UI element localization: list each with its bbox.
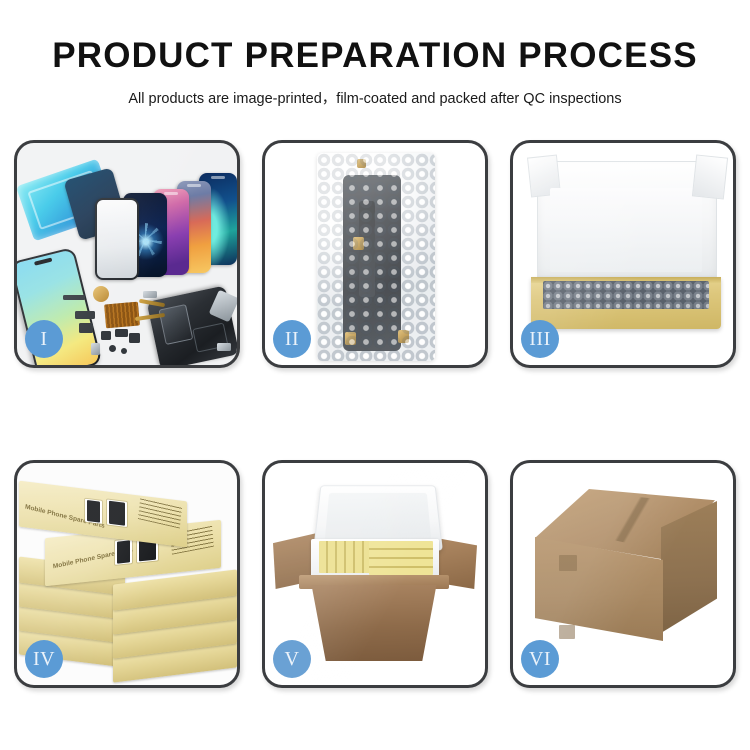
metal-bracket-graphic bbox=[143, 291, 157, 298]
vibration-motor-graphic bbox=[101, 331, 111, 340]
process-step-panel-1[interactable]: I bbox=[14, 140, 240, 368]
process-step-panel-4[interactable]: Mobile Phone Spare Parts Mobile Phone Sp… bbox=[14, 460, 240, 688]
product-preparation-infographic: { "header": { "title": "PRODUCT PREPARAT… bbox=[0, 0, 750, 750]
box-window-graphic bbox=[85, 499, 102, 524]
camera-module-graphic bbox=[79, 323, 93, 333]
sim-tray-graphic bbox=[115, 329, 128, 337]
process-step-grid: I II III bbox=[14, 140, 736, 688]
box-window-graphic bbox=[115, 539, 132, 565]
process-step-panel-5[interactable]: V bbox=[262, 460, 488, 688]
foam-lid-graphic bbox=[537, 161, 717, 281]
header: PRODUCT PREPARATION PROCESS All products… bbox=[0, 0, 750, 108]
page-title: PRODUCT PREPARATION PROCESS bbox=[0, 38, 750, 75]
sensor-graphic bbox=[91, 343, 100, 355]
tweezers-graphic bbox=[217, 343, 231, 351]
process-step-panel-6[interactable]: VI bbox=[510, 460, 736, 688]
carton-tape-graphic bbox=[559, 625, 575, 639]
box-spec-lines-graphic bbox=[138, 497, 182, 528]
notch-graphic bbox=[187, 184, 201, 187]
logic-board-graphic bbox=[104, 302, 140, 329]
step-badge-3: III bbox=[521, 320, 559, 358]
connector-graphic bbox=[75, 311, 95, 319]
screw-graphic bbox=[121, 348, 127, 354]
notch-graphic bbox=[164, 192, 178, 195]
speaker-module-graphic bbox=[93, 286, 109, 302]
step-badge-2: II bbox=[273, 320, 311, 358]
charging-port-graphic bbox=[129, 333, 140, 343]
foam-sheet-graphic bbox=[550, 188, 702, 272]
screw-graphic bbox=[109, 345, 116, 352]
grey-bubble-wrap-contents-graphic bbox=[543, 281, 709, 309]
process-step-panel-3[interactable]: III bbox=[510, 140, 736, 368]
screen-protector-graphic bbox=[95, 198, 139, 280]
carton-body-graphic bbox=[303, 585, 445, 661]
step-badge-6: VI bbox=[521, 640, 559, 678]
step-badge-4: IV bbox=[25, 640, 63, 678]
yellow-boxes-right-graphic bbox=[369, 541, 433, 575]
bubble-wrap-bag-graphic bbox=[317, 153, 435, 361]
page-subtitle: All products are image-printed，film-coat… bbox=[0, 87, 750, 108]
carton-tape-graphic bbox=[559, 555, 577, 571]
step-badge-1: I bbox=[25, 320, 63, 358]
step-badge-5: V bbox=[273, 640, 311, 678]
bubble-texture-overlay bbox=[317, 153, 435, 361]
box-window-graphic bbox=[107, 499, 127, 526]
process-step-panel-2[interactable]: II bbox=[262, 140, 488, 368]
notch-graphic bbox=[211, 176, 225, 179]
antenna-strip-graphic bbox=[63, 295, 85, 300]
